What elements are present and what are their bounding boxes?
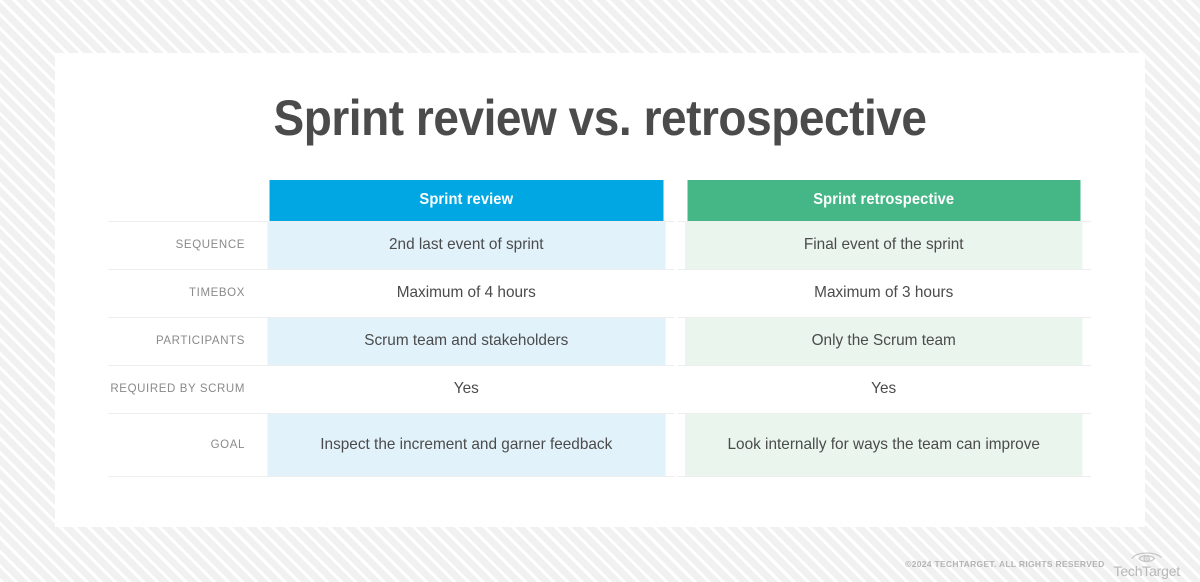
table-row: Timebox Maximum of 4 hours Maximum of 3 … — [108, 269, 1091, 317]
column-header-blank — [112, 180, 255, 221]
row-label-required-by-scrum: Required by Scrum — [108, 365, 259, 413]
row-label-timebox: Timebox — [108, 269, 259, 317]
table-row: Required by Scrum Yes Yes — [108, 365, 1091, 413]
table-header: Sprint review Sprint retrospective — [108, 180, 1091, 221]
cell-sequence-retrospective: Final event of the sprint — [683, 221, 1082, 269]
eye-icon — [1130, 550, 1164, 563]
table-row: Goal Inspect the increment and garner fe… — [108, 413, 1091, 476]
row-label-participants: Participants — [108, 317, 259, 365]
copyright-text: ©2024 TECHTARGET. ALL RIGHTS RESERVED — [905, 559, 1104, 569]
cell-required-by-scrum-review: Yes — [267, 365, 666, 413]
techtarget-logo: TechTarget — [1114, 550, 1180, 578]
cell-participants-review: Scrum team and stakeholders — [267, 317, 666, 365]
column-header-sprint-review: Sprint review — [269, 180, 664, 221]
table-header-row: Sprint review Sprint retrospective — [108, 180, 1091, 221]
cell-sequence-review: 2nd last event of sprint — [267, 221, 666, 269]
cell-goal-retrospective: Look internally for ways the team can im… — [683, 413, 1082, 476]
column-header-sprint-retrospective: Sprint retrospective — [685, 180, 1080, 221]
cell-goal-review: Inspect the increment and garner feedbac… — [267, 413, 666, 476]
table-row: Sequence 2nd last event of sprint Final … — [108, 221, 1091, 269]
cell-timebox-review: Maximum of 4 hours — [267, 269, 666, 317]
cell-timebox-retrospective: Maximum of 3 hours — [683, 269, 1082, 317]
table-body: Sequence 2nd last event of sprint Final … — [108, 221, 1091, 476]
table-row: Participants Scrum team and stakeholders… — [108, 317, 1091, 365]
page-title: Sprint review vs. retrospective — [99, 89, 1102, 147]
content-card: Sprint review vs. retrospective Sprint r… — [55, 53, 1145, 527]
comparison-table-wrapper: Sprint review Sprint retrospective Seque… — [108, 180, 1091, 477]
row-label-goal: Goal — [108, 413, 259, 476]
cell-participants-retrospective: Only the Scrum team — [683, 317, 1082, 365]
footer: ©2024 TECHTARGET. ALL RIGHTS RESERVED Te… — [905, 550, 1180, 578]
cell-required-by-scrum-retrospective: Yes — [683, 365, 1082, 413]
row-label-sequence: Sequence — [108, 221, 259, 269]
comparison-table: Sprint review Sprint retrospective Seque… — [108, 180, 1091, 477]
techtarget-wordmark: TechTarget — [1114, 564, 1180, 578]
